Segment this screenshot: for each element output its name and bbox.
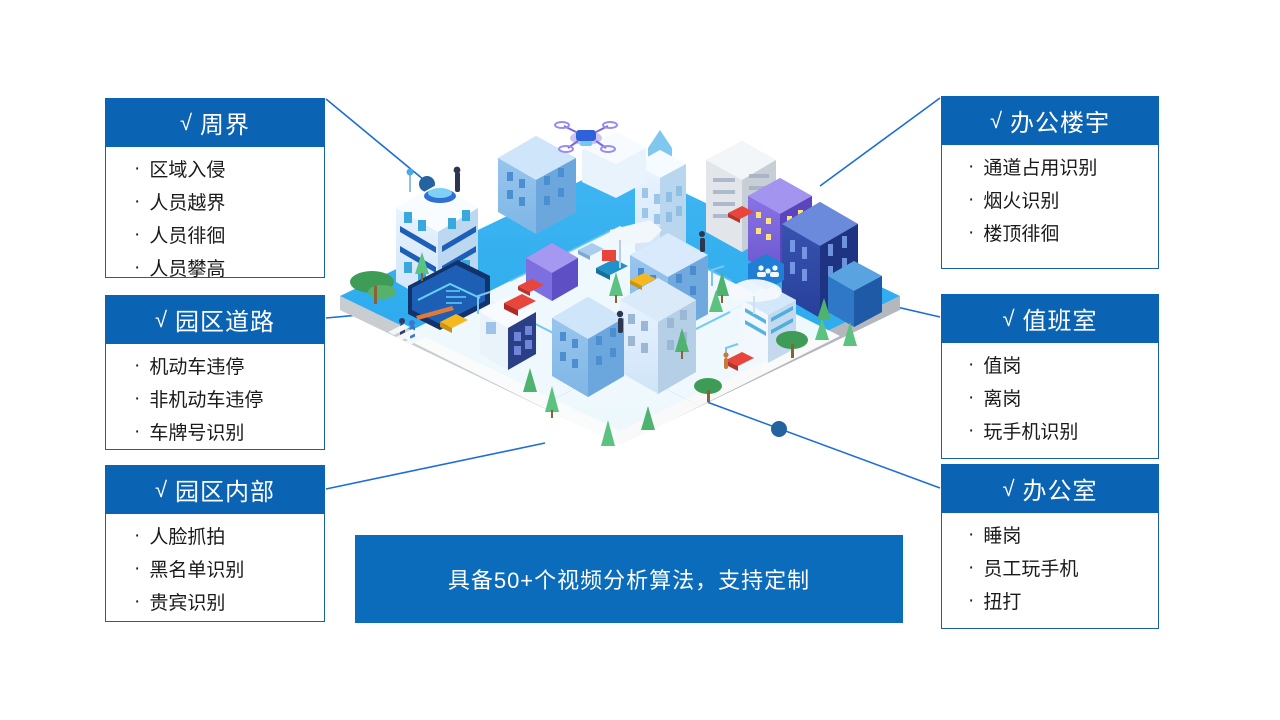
card-road-title: 园区道路	[175, 302, 275, 337]
list-item-label: 通道占用识别	[983, 159, 1097, 178]
rooftop-guard	[455, 172, 460, 192]
infographic-canvas: √ 周界 · 区域入侵 · 人员越界 · 人员徘徊 · 人员攀高 √	[0, 0, 1280, 720]
list-item: · 睡岗	[968, 527, 1158, 546]
list-item: · 车牌号识别	[134, 424, 324, 443]
list-item: · 贵宾识别	[134, 594, 324, 613]
list-item-label: 楼顶徘徊	[983, 225, 1059, 244]
card-duty-room-header: √ 值班室	[941, 294, 1159, 343]
bullet-icon: ·	[968, 388, 974, 407]
bullet-icon: ·	[134, 559, 140, 578]
list-item-label: 非机动车违停	[149, 391, 263, 410]
card-office-title: 办公室	[1023, 471, 1098, 506]
list-item: · 烟火识别	[968, 192, 1158, 211]
check-icon: √	[155, 479, 168, 501]
card-campus-header: √ 园区内部	[105, 465, 325, 514]
card-office[interactable]: √ 办公室 · 睡岗 · 员工玩手机 · 扭打	[941, 464, 1159, 629]
card-office-building-body: · 通道占用识别 · 烟火识别 · 楼顶徘徊	[941, 145, 1159, 269]
card-perimeter-header: √ 周界	[105, 98, 325, 147]
rooftop-sensor	[407, 169, 414, 176]
list-item: · 扭打	[968, 593, 1158, 612]
check-icon: √	[1002, 308, 1015, 330]
card-duty-room[interactable]: √ 值班室 · 值岗 · 离岗 · 玩手机识别	[941, 294, 1159, 459]
bullet-icon: ·	[968, 190, 974, 209]
check-icon: √	[180, 112, 193, 134]
list-item: · 非机动车违停	[134, 391, 324, 410]
card-office-building-title: 办公楼宇	[1010, 103, 1110, 138]
bullet-icon: ·	[134, 192, 140, 211]
list-item-label: 人员越界	[149, 194, 225, 213]
bullet-icon: ·	[968, 591, 974, 610]
list-item: · 黑名单识别	[134, 561, 324, 580]
bullet-icon: ·	[134, 526, 140, 545]
list-item-label: 扭打	[983, 593, 1021, 612]
card-office-building[interactable]: √ 办公楼宇 · 通道占用识别 · 烟火识别 · 楼顶徘徊	[941, 96, 1159, 269]
list-item-label: 人员徘徊	[149, 227, 225, 246]
list-item: · 人员攀高	[134, 260, 324, 279]
smart-city-illustration	[330, 100, 910, 470]
list-item: · 玩手机识别	[968, 423, 1158, 442]
card-office-body: · 睡岗 · 员工玩手机 · 扭打	[941, 513, 1159, 629]
list-item: · 机动车违停	[134, 358, 324, 377]
list-item: · 区域入侵	[134, 161, 324, 180]
list-item-label: 值岗	[983, 357, 1021, 376]
list-item-label: 睡岗	[983, 527, 1021, 546]
list-item-label: 离岗	[983, 390, 1021, 409]
list-item-label: 员工玩手机	[983, 560, 1078, 579]
card-perimeter[interactable]: √ 周界 · 区域入侵 · 人员越界 · 人员徘徊 · 人员攀高	[105, 98, 325, 278]
list-item: · 人员徘徊	[134, 227, 324, 246]
card-campus-title: 园区内部	[175, 472, 275, 507]
building-front-tower	[620, 278, 696, 394]
summary-banner-text: 具备50+个视频分析算法，支持定制	[448, 563, 810, 595]
card-perimeter-body: · 区域入侵 · 人员越界 · 人员徘徊 · 人员攀高	[105, 147, 325, 278]
bullet-icon: ·	[968, 223, 974, 242]
list-item-label: 人脸抓拍	[149, 528, 225, 547]
card-campus-interior[interactable]: √ 园区内部 · 人脸抓拍 · 黑名单识别 · 贵宾识别	[105, 465, 325, 622]
list-item-label: 烟火识别	[983, 192, 1059, 211]
summary-banner: 具备50+个视频分析算法，支持定制	[355, 535, 903, 623]
bullet-icon: ·	[134, 592, 140, 611]
bullet-icon: ·	[968, 421, 974, 440]
card-duty-room-title: 值班室	[1023, 301, 1098, 336]
card-campus-body: · 人脸抓拍 · 黑名单识别 · 贵宾识别	[105, 514, 325, 622]
card-road-header: √ 园区道路	[105, 295, 325, 344]
bullet-icon: ·	[134, 356, 140, 375]
list-item: · 员工玩手机	[968, 560, 1158, 579]
bullet-icon: ·	[134, 389, 140, 408]
list-item-label: 玩手机识别	[983, 423, 1078, 442]
bullet-icon: ·	[134, 159, 140, 178]
list-item-label: 区域入侵	[149, 161, 225, 180]
check-icon: √	[155, 309, 168, 331]
check-icon: √	[990, 110, 1003, 132]
list-item-label: 贵宾识别	[149, 594, 225, 613]
card-duty-room-body: · 值岗 · 离岗 · 玩手机识别	[941, 343, 1159, 459]
list-item: · 离岗	[968, 390, 1158, 409]
list-item-label: 人员攀高	[149, 260, 225, 279]
list-item: · 人脸抓拍	[134, 528, 324, 547]
list-item-label: 黑名单识别	[149, 561, 244, 580]
card-office-building-header: √ 办公楼宇	[941, 96, 1159, 145]
card-perimeter-title: 周界	[200, 105, 250, 140]
bullet-icon: ·	[968, 355, 974, 374]
bullet-icon: ·	[134, 422, 140, 441]
bullet-icon: ·	[134, 258, 140, 277]
building-front-left	[552, 297, 624, 397]
bullet-icon: ·	[134, 225, 140, 244]
card-office-header: √ 办公室	[941, 464, 1159, 513]
list-item: · 值岗	[968, 357, 1158, 376]
bullet-icon: ·	[968, 157, 974, 176]
list-item: · 楼顶徘徊	[968, 225, 1158, 244]
list-item: · 人员越界	[134, 194, 324, 213]
check-icon: √	[1002, 478, 1015, 500]
card-road[interactable]: √ 园区道路 · 机动车违停 · 非机动车违停 · 车牌号识别	[105, 295, 325, 450]
bullet-icon: ·	[968, 525, 974, 544]
list-item: · 通道占用识别	[968, 159, 1158, 178]
bullet-icon: ·	[968, 558, 974, 577]
list-item-label: 车牌号识别	[149, 424, 244, 443]
list-item-label: 机动车违停	[149, 358, 244, 377]
card-road-body: · 机动车违停 · 非机动车违停 · 车牌号识别	[105, 344, 325, 450]
